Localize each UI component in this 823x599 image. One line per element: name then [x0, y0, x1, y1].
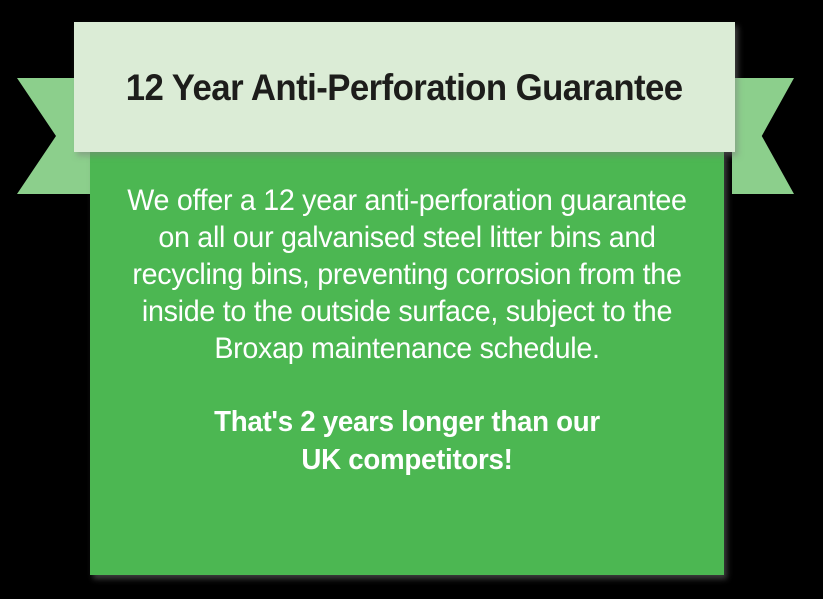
paragraph-spacer	[110, 367, 704, 403]
highlight-line-2: UK competitors!	[123, 441, 690, 479]
guarantee-banner: 12 Year Anti-Perforation Guarantee We of…	[0, 0, 823, 599]
banner-body-text: We offer a 12 year anti-perforation guar…	[110, 182, 704, 479]
ribbon-tail-right-icon	[732, 78, 794, 194]
banner-header-band: 12 Year Anti-Perforation Guarantee	[74, 22, 735, 152]
guarantee-description: We offer a 12 year anti-perforation guar…	[123, 182, 690, 367]
banner-title: 12 Year Anti-Perforation Guarantee	[126, 67, 683, 108]
highlight-line-1: That's 2 years longer than our	[123, 403, 690, 441]
